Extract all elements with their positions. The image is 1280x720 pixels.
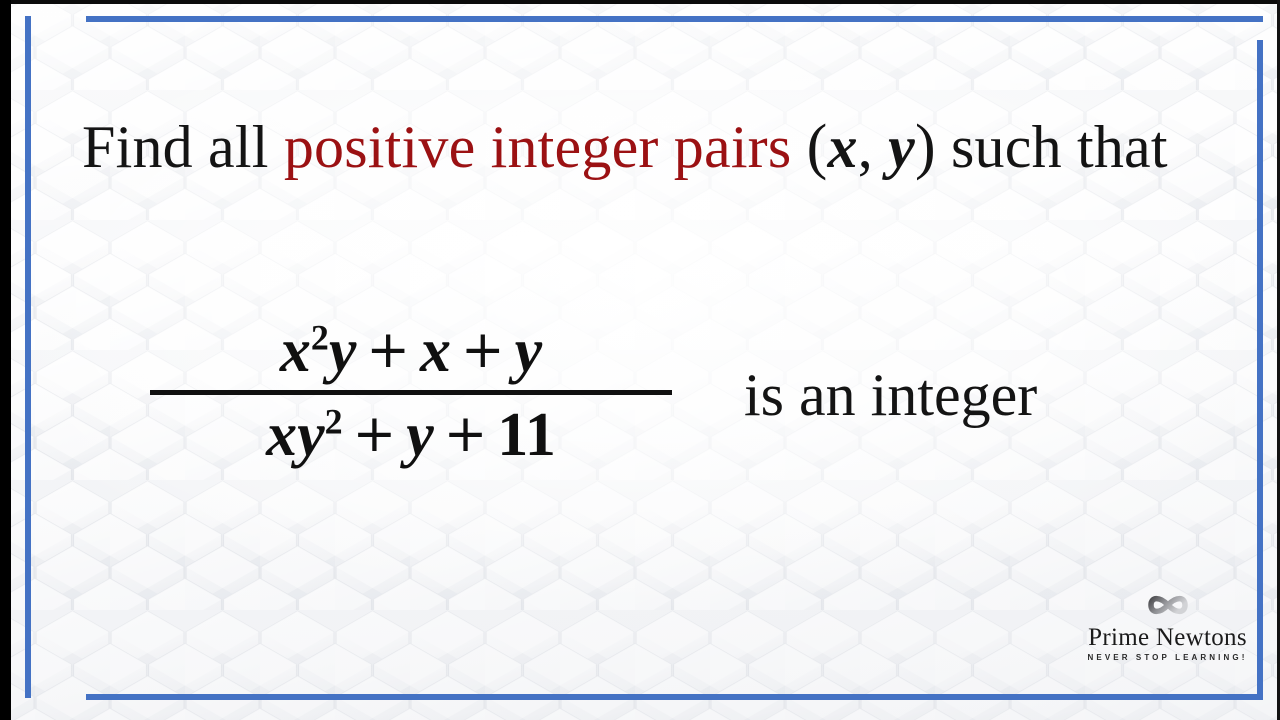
expression-row: x2y+x+y xy2+y+11 is an integer: [0, 286, 1280, 501]
slide-canvas: Find all positive integer pairs (x, y) s…: [0, 0, 1280, 720]
statement-space: [791, 114, 806, 180]
denom-operator-2: +: [434, 404, 498, 464]
frame-border-top: [86, 16, 1263, 22]
fraction-bar: [150, 390, 672, 395]
numer-term1-var: y: [329, 317, 357, 385]
numer-operator-1: +: [356, 320, 420, 380]
numer-term1-base: x: [280, 317, 311, 385]
problem-statement: Find all positive integer pairs (x, y) s…: [82, 116, 1212, 178]
denom-term1-var: x: [266, 401, 297, 469]
pair-var-x: x: [827, 114, 857, 180]
fraction: x2y+x+y xy2+y+11: [150, 319, 672, 468]
denom-operator-1: +: [343, 404, 407, 464]
pair-var-y: y: [888, 114, 915, 180]
numer-term2: x: [420, 317, 451, 385]
numer-operator-2: +: [451, 320, 515, 380]
edge-band-top: [0, 0, 1280, 4]
denom-term1-exponent: 2: [325, 401, 343, 441]
numer-term1-exponent: 2: [311, 317, 329, 357]
statement-highlight: positive integer pairs: [284, 114, 792, 180]
statement-prefix: Find all: [82, 114, 284, 180]
pair-comma: ,: [858, 114, 888, 180]
fraction-numerator: x2y+x+y: [266, 319, 556, 384]
numer-term3: y: [515, 317, 543, 385]
channel-logo: Prime Newtons NEVER STOP LEARNING!: [1080, 586, 1255, 662]
logo-wordmark: Prime Newtons: [1080, 625, 1255, 651]
pair-close-paren: ): [915, 113, 936, 181]
logo-tagline: NEVER STOP LEARNING!: [1080, 653, 1255, 662]
frame-border-bottom: [86, 694, 1263, 700]
denom-term3: 11: [497, 401, 556, 469]
denom-term1-base: y: [297, 401, 325, 469]
denom-term2: y: [406, 401, 434, 469]
fraction-denominator: xy2+y+11: [252, 403, 570, 468]
pair-open-paren: (: [807, 113, 828, 181]
statement-suffix: such that: [936, 114, 1168, 180]
infinity-icon: [1136, 586, 1200, 624]
condition-text: is an integer: [744, 361, 1037, 430]
